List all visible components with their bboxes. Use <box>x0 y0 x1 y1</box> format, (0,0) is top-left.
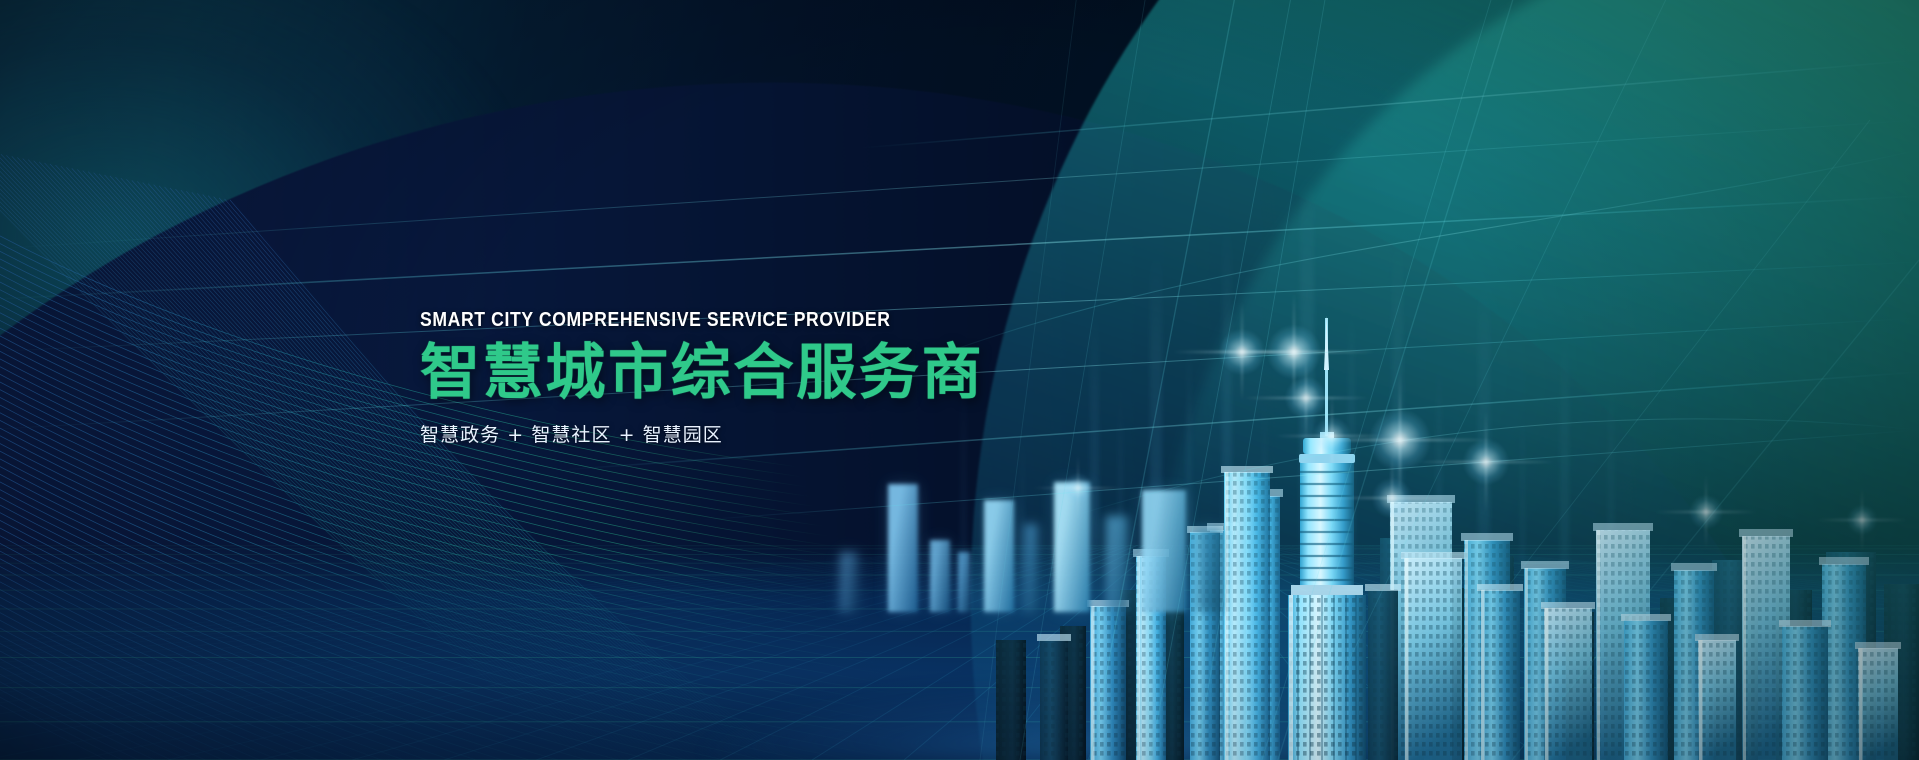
hero-copy: SMART CITY COMPREHENSIVE SERVICE PROVIDE… <box>420 310 1040 447</box>
hero-banner: SMART CITY COMPREHENSIVE SERVICE PROVIDE… <box>0 0 1919 760</box>
subtitle-text: 智慧政务 + 智慧社区 + 智慧园区 <box>420 420 1040 447</box>
page-title: 智慧城市综合服务商 <box>420 341 1040 406</box>
eyebrow-text: SMART CITY COMPREHENSIVE SERVICE PROVIDE… <box>420 310 966 330</box>
